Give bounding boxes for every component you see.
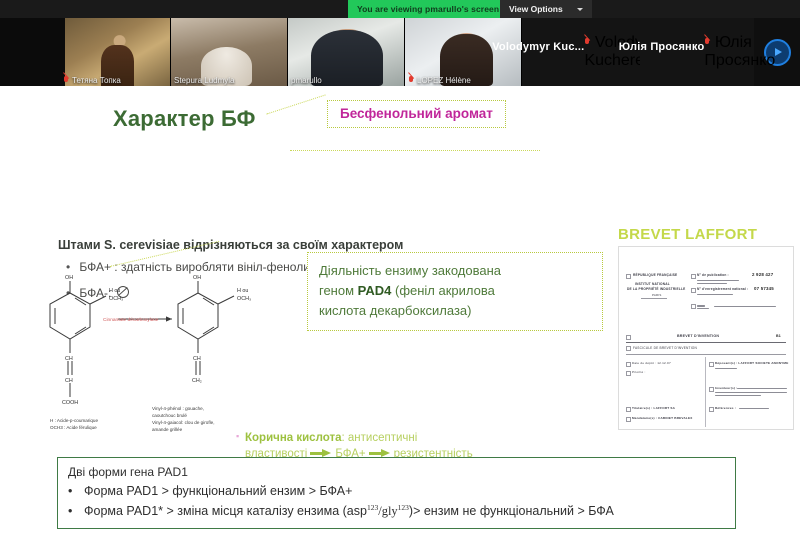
mic-muted-icon (408, 76, 414, 85)
label-ch-right: CH (193, 356, 201, 362)
pad4-line-1: Діяльність ензиму закодована (319, 261, 591, 281)
participant-initials-name: Юлія Просянко (619, 41, 705, 53)
participant-filmstrip[interactable]: Тетяна Топка Stepura Ludmyla pmarullo LO… (0, 18, 800, 86)
chem-caption-right: Vinyl-4-phénol : gouache, caoutchouc bru… (152, 406, 214, 434)
shared-slide-canvas: Характер БФ Бесфенольний аромат Штами S.… (0, 86, 800, 534)
mic-muted-icon (584, 38, 590, 47)
view-options-label: View Options (509, 4, 563, 14)
chem-caption-left: H : Acide-p-coumarique OCH3 : Acide féru… (50, 418, 98, 432)
patent-col-right-line: Inventeur(s) : (715, 386, 737, 390)
enzyme-arrow-label: Cinnamate décarboxylase (103, 318, 158, 323)
pad1-heading: Дві форми гена PAD1 (68, 465, 725, 479)
mic-muted-icon (704, 38, 710, 47)
participant-name-label: pmarullo (288, 76, 325, 85)
patent-subtitle: FASCICULE DE BREVET D'INVENTION (633, 346, 697, 350)
patent-col-right-line: Références : (715, 406, 736, 410)
viewing-screen-banner: You are viewing pmarullo's screen (348, 0, 508, 18)
patent-registration-number: 07 57345 (754, 286, 774, 291)
patent-field-label: N° d'enregistrement national : (697, 287, 748, 291)
bullet-marker: ▪ (236, 430, 245, 443)
bullet-marker: • (68, 504, 84, 518)
patent-col-right-line: Déposant(s) : LAFFORT SOCIETE ANONYME (715, 361, 788, 365)
patent-col-left-line: Titulaire(s) : LAFFORT SA (632, 406, 675, 410)
patent-col-left-line: Priorité : (632, 370, 646, 374)
pad1-item-1: •Форма PAD1 > функціональний ензим > БФА… (68, 484, 725, 498)
mic-muted-icon (63, 76, 69, 85)
label-ch-left-bottom: CH (65, 378, 73, 384)
participant-name-label: Тетяна Топка (60, 76, 124, 85)
superscript-123: 123 (398, 503, 409, 512)
participant-tile-stepura[interactable]: Stepura Ludmyla (171, 18, 288, 86)
patent-publication-number: 2 928 427 (752, 272, 773, 277)
participant-initials-name: Volodymyr Kuc... (492, 41, 584, 53)
pad1-forms-box: Дві форми гена PAD1 •Форма PAD1 > функці… (57, 457, 736, 529)
bullet-marker: • (68, 484, 84, 498)
participant-tile-tetyana[interactable]: Тетяна Топка (0, 18, 171, 86)
patent-field-label: N° de publication : (697, 273, 729, 277)
connector-line (266, 94, 325, 114)
pad4-line-3: кислота декарбоксилаза) (319, 301, 591, 321)
slide-title: Характер БФ (113, 106, 256, 132)
patent-col-left-line: Mandataire(s) : CABINET BREVALEX (632, 416, 693, 420)
participant-tile-pmarullo[interactable]: pmarullo (288, 18, 405, 86)
participant-name-label: LOPEZ Hélène (405, 76, 474, 85)
label-oh-left: OH (65, 275, 73, 281)
label-och3-left: OCH₃ (109, 296, 123, 302)
connector-line (290, 150, 540, 151)
cinnamic-acid-term: Корична кислота (245, 432, 342, 444)
brevet-title: BREVET LAFFORT (618, 226, 757, 243)
view-options-button[interactable]: View Options (500, 0, 592, 18)
label-och3-right: OCH₃ (237, 296, 251, 302)
patent-authority-line: RÉPUBLIQUE FRANÇAISE (633, 273, 677, 277)
pad4-callout-box: Діяльність ензиму закодована геном PAD4 … (307, 252, 603, 331)
patent-document-image: RÉPUBLIQUE FRANÇAISE INSTITUT NATIONAL D… (618, 246, 794, 430)
slide-subheading: Штами S. cerevisiae відрізняються за сво… (58, 238, 403, 252)
chevron-down-icon (577, 8, 583, 11)
superscript-123: 123 (367, 503, 378, 512)
participant-tile-yuliia[interactable]: Юлія Просянко Юлія Просянко (640, 18, 754, 86)
label-oh-right: OH (193, 275, 201, 281)
pad4-line-2: геном PAD4 (феніл акрилова (319, 281, 591, 301)
label-h-ou-left: H ou (109, 288, 120, 294)
label-h-ou-right: H ou (237, 288, 248, 294)
label-ch-left-top: CH (65, 356, 73, 362)
label-ch2-right: CH₂ (192, 378, 202, 384)
label-cooh: COOH (62, 400, 78, 406)
participant-name-label: Юлія Просянко (704, 34, 775, 70)
patent-kind-code: B1 (776, 334, 781, 338)
pad4-gene-name: PAD4 (358, 283, 392, 298)
participant-name-label: Stepura Ludmyla (171, 76, 237, 85)
aroma-callout-badge: Бесфенольний аромат (327, 100, 506, 128)
patent-authority-line: INSTITUT NATIONAL (635, 282, 670, 286)
patent-authority-line: PARIS (652, 293, 661, 297)
zoom-top-bar: You are viewing pmarullo's screen View O… (0, 0, 800, 18)
patent-doc-kind: BREVET D'INVENTION (677, 334, 719, 338)
patent-authority-line: DE LA PROPRIÉTÉ INDUSTRIELLE (627, 287, 685, 291)
pad1-item-2: •Форма PAD1* > зміна місця каталізу ензи… (68, 503, 725, 519)
patent-col-left-line: Date de dépôt : 12.12.07 (632, 361, 671, 365)
